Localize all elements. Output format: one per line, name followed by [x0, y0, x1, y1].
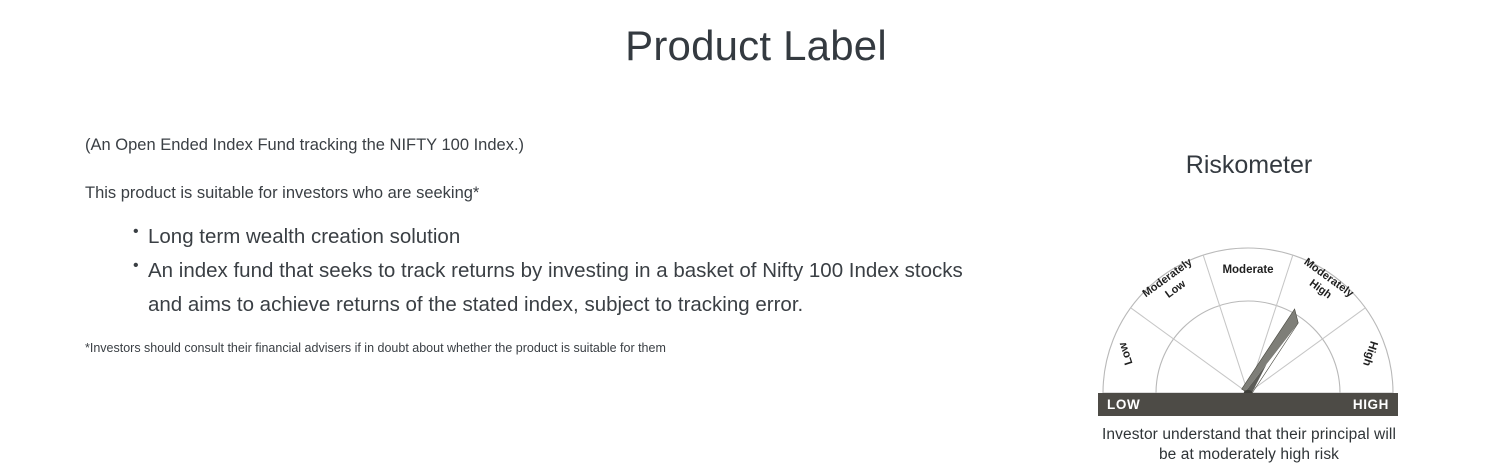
riskometer-panel: Riskometer: [1098, 150, 1400, 465]
riskometer-scale-bar: LOW HIGH: [1098, 393, 1398, 416]
page-title: Product Label: [0, 22, 1512, 70]
footnote-text: *Investors should consult their financia…: [85, 340, 965, 358]
riskometer-gauge-svg: Low Moderately Low Moderate Moderately H…: [1098, 190, 1398, 420]
fund-description-line: (An Open Ended Index Fund tracking the N…: [85, 133, 965, 158]
riskometer-caption: Investor understand that their principal…: [1098, 425, 1400, 465]
riskometer-heading: Riskometer: [1098, 150, 1400, 180]
scale-label-low: LOW: [1107, 397, 1140, 412]
list-item: Long term wealth creation solution: [133, 220, 965, 254]
suitability-bullet-list: Long term wealth creation solution An in…: [85, 220, 965, 322]
product-label-content: (An Open Ended Index Fund tracking the N…: [85, 133, 965, 357]
suitability-intro-line: This product is suitable for investors w…: [85, 181, 965, 206]
list-item: An index fund that seeks to track return…: [133, 254, 965, 322]
riskometer-gauge: Low Moderately Low Moderate Moderately H…: [1098, 190, 1398, 420]
segment-label-moderate: Moderate: [1222, 264, 1273, 276]
scale-label-high: HIGH: [1353, 397, 1389, 412]
